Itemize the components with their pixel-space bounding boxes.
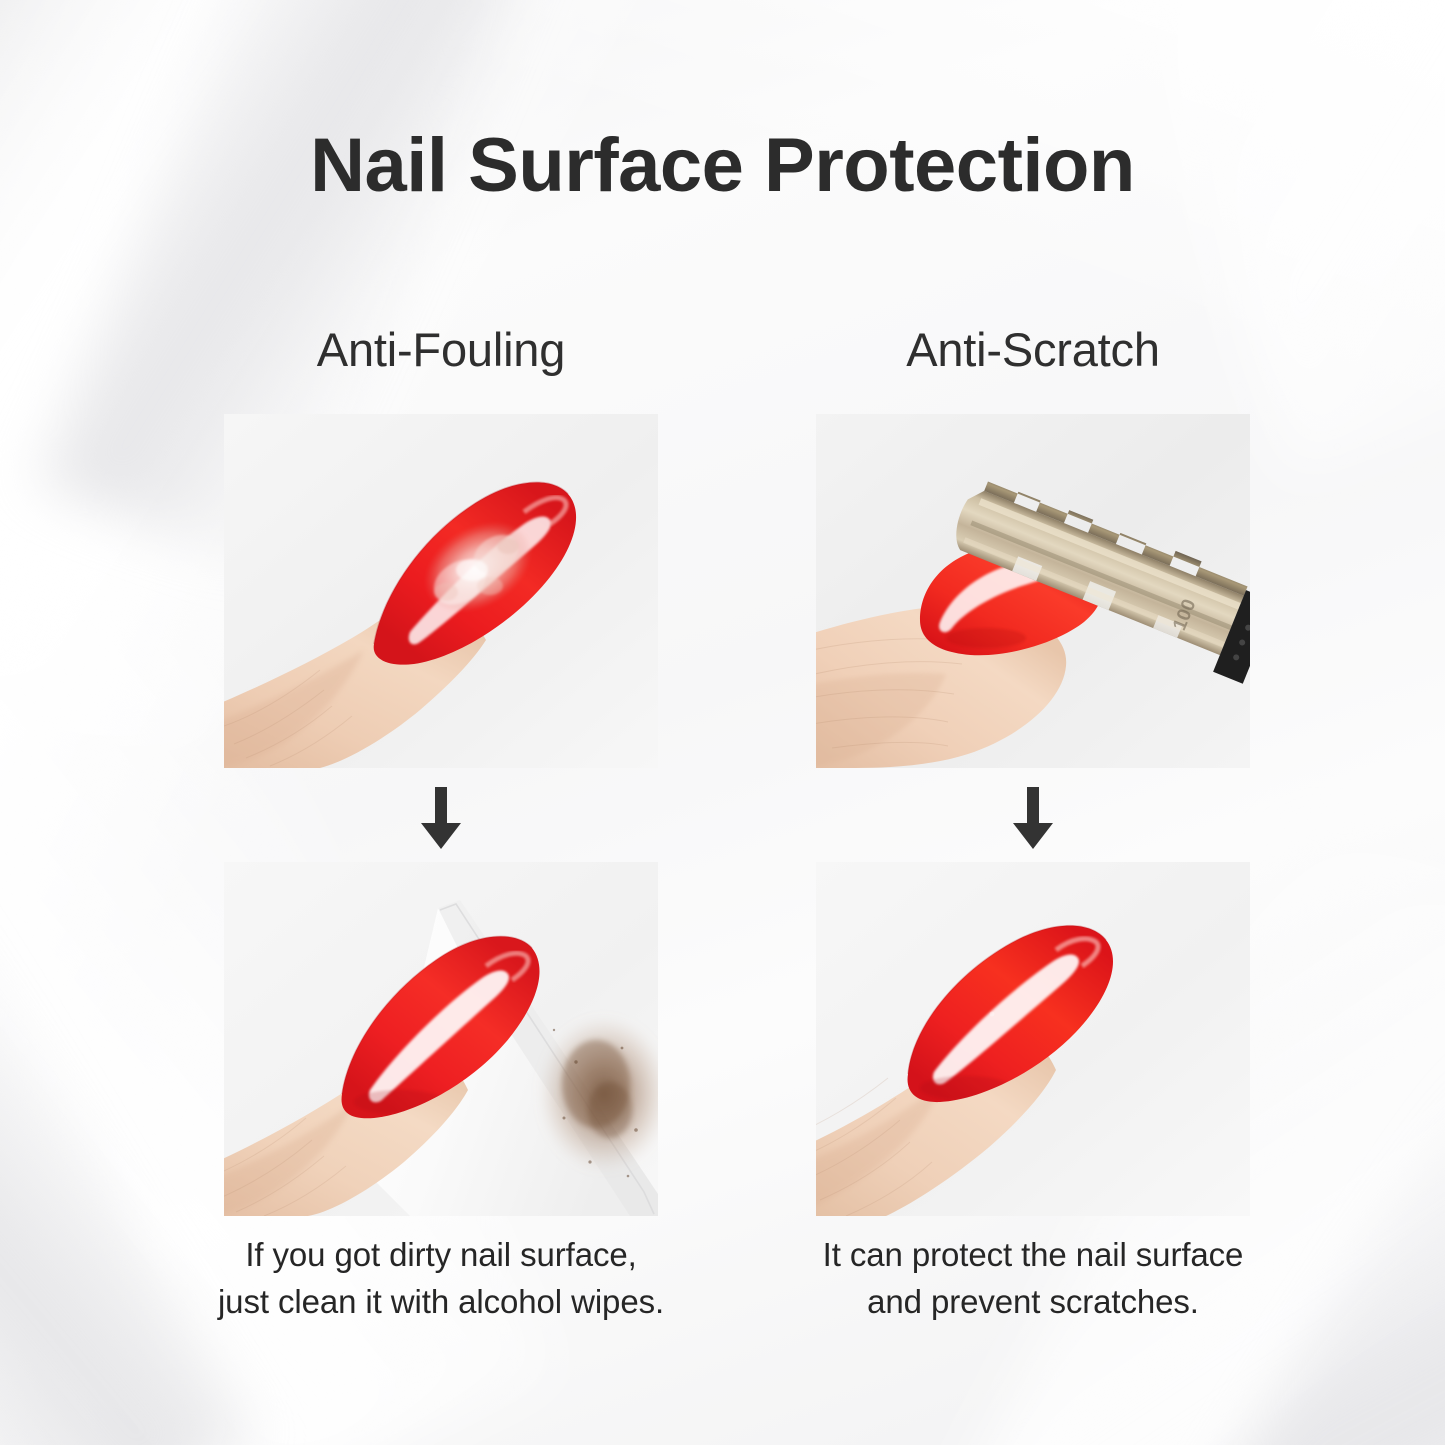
caption-anti-scratch: It can protect the nail surface and prev… (753, 1232, 1313, 1326)
caption-line: It can protect the nail surface (753, 1232, 1313, 1279)
caption-line: and prevent scratches. (753, 1279, 1313, 1326)
caption-anti-fouling: If you got dirty nail surface, just clea… (161, 1232, 721, 1326)
key-scratching-nail-illustration: 100 (816, 414, 1250, 768)
photo-anti-fouling-after (224, 862, 658, 1216)
photo-anti-fouling-before (224, 414, 658, 768)
caption-line: If you got dirty nail surface, (161, 1232, 721, 1279)
infographic-page: Nail Surface Protection Anti-Fouling Ant… (0, 0, 1445, 1445)
background-shadow-streak (0, 832, 255, 1445)
clean-nail-with-wipe-illustration (224, 862, 658, 1216)
column-heading-anti-fouling: Anti-Fouling (191, 326, 691, 373)
photo-anti-scratch-before: 100 (816, 414, 1250, 768)
page-title: Nail Surface Protection (0, 128, 1445, 204)
caption-line: just clean it with alcohol wipes. (161, 1279, 721, 1326)
photo-anti-scratch-after (816, 862, 1250, 1216)
unscratched-nail-illustration (816, 862, 1250, 1216)
background-highlight-streak (1100, 0, 1445, 476)
down-arrow-icon (419, 787, 463, 849)
down-arrow-icon (1011, 787, 1055, 849)
dirty-nail-illustration (224, 414, 658, 768)
column-heading-anti-scratch: Anti-Scratch (783, 326, 1283, 373)
